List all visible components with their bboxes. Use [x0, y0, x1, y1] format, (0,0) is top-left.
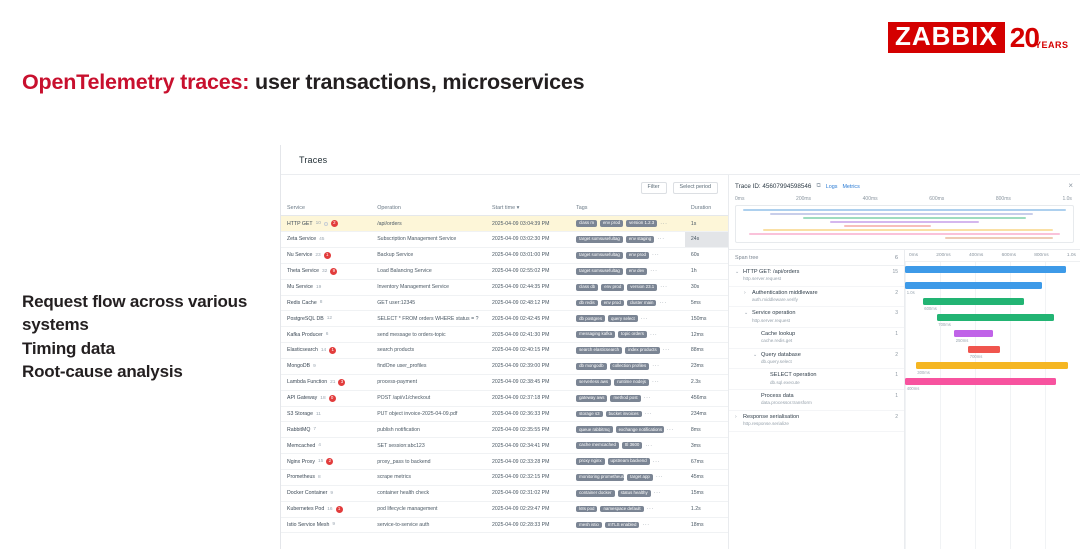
span-label: Response serialisation — [743, 414, 799, 421]
minimap-bar-1 — [770, 213, 1033, 215]
metrics-link[interactable]: Metrics — [842, 184, 859, 190]
service-name: Istio Service Mesh — [287, 522, 329, 528]
tag-chip[interactable]: gateway aws — [576, 395, 607, 402]
cell-duration: 2.3s — [685, 374, 728, 390]
cell-operation: Subscription Management Service — [371, 232, 486, 248]
cell-start-time: 2025-04-09 02:36:33 PM — [486, 406, 570, 422]
tag-chip[interactable]: db mongodb — [576, 363, 606, 370]
tag-chip[interactable]: mTLS enabled — [605, 522, 640, 529]
cell-tags: messaging kafkatopic orders··· — [570, 327, 685, 343]
more-tags-icon[interactable]: ··· — [645, 443, 652, 449]
cell-duration: 5ms — [685, 295, 728, 311]
cell-duration: 18ms — [685, 517, 728, 533]
more-tags-icon[interactable]: ··· — [659, 300, 666, 306]
tag-chip[interactable]: version 23.1 — [627, 284, 657, 291]
overview-ruler-tick-5: 1.0s — [1062, 196, 1071, 202]
service-name: Docker Container — [287, 490, 327, 496]
cell-tags: class dbenv prodversion 23.1··· — [570, 279, 685, 295]
span-tree-rows: ⌄HTTP GET: /api/ordershttp.server.reques… — [729, 266, 904, 432]
service-span-count: 9 — [313, 364, 316, 369]
error-count-badge: 1 — [324, 252, 331, 259]
gantt-ruler-tick-2: 400ms — [969, 253, 983, 258]
cell-service: Memcached4 — [281, 438, 371, 454]
cell-duration: 12ms — [685, 327, 728, 343]
span-child-count: 15 — [892, 269, 898, 275]
cell-service: MongoDB9 — [281, 358, 371, 374]
gantt-ruler-tick-1: 200ms — [936, 253, 950, 258]
span-child-count: 1 — [895, 372, 898, 378]
cell-operation: GET user:12345 — [371, 295, 486, 311]
traces-table: ServiceOperationStart time ▾TagsDuration… — [281, 201, 728, 533]
tag-chip[interactable]: env prod — [601, 284, 624, 291]
cell-operation: findOne user_profiles — [371, 358, 486, 374]
gantt-bar-0[interactable] — [905, 266, 1066, 273]
service-name: Nginx Proxy — [287, 459, 315, 465]
span-operation-name: db.sql.execute — [770, 380, 817, 386]
overview-ruler-tick-2: 400ms — [863, 196, 878, 202]
span-label: Cache lookup — [761, 331, 795, 338]
tag-chip[interactable]: collection profiles — [610, 363, 650, 370]
service-span-count: 4 — [318, 443, 321, 448]
column-header-4[interactable]: Duration — [685, 201, 728, 216]
tag-chip[interactable]: env prod — [626, 252, 649, 259]
more-tags-icon[interactable]: ··· — [654, 490, 661, 496]
cell-start-time: 2025-04-09 02:48:12 PM — [486, 295, 570, 311]
detail-split: Span tree 6 ⌄HTTP GET: /api/ordershttp.s… — [729, 249, 1080, 549]
cell-service: HTTP GET102 — [281, 216, 371, 232]
span-tree-row[interactable]: ›Response serialisationhttp.response.ser… — [729, 411, 904, 432]
span-tree-header: Span tree 6 — [729, 252, 904, 266]
span-operation-name: http.server.request — [743, 276, 799, 282]
cell-service: Elasticsearch141 — [281, 342, 371, 358]
tag-chip[interactable]: proxy nginx — [576, 458, 604, 465]
tag-chip[interactable]: query select — [608, 315, 638, 322]
tag-chip[interactable]: version 1.2.3 — [626, 220, 657, 227]
filter-button[interactable]: Filter — [641, 182, 667, 194]
more-tags-icon[interactable]: ··· — [644, 395, 651, 401]
cell-tags: target somsusefultagenv dev··· — [570, 263, 685, 279]
span-tree-row[interactable]: Cache lookupcache.redis.get1 — [729, 328, 904, 349]
gantt-bar-label-6: 300ms — [917, 370, 930, 375]
traces-app-screenshot: Traces Filter Select period ServiceOpera… — [280, 145, 1080, 549]
cell-operation: process-payment — [371, 374, 486, 390]
gantt-bar-1[interactable] — [905, 282, 1042, 289]
tag-chip[interactable]: topic orders — [618, 331, 647, 338]
gantt-ruler-tick-5: 1.0s — [1067, 253, 1076, 258]
zabbix-wordmark: ZABBIX — [888, 22, 1005, 53]
tag-chip[interactable]: search elasticsearch — [576, 347, 622, 354]
service-span-count: 21 — [330, 380, 335, 385]
cell-operation: search products — [371, 342, 486, 358]
table-row[interactable]: API Gateway180POST /api/v1/checkout2025-… — [281, 390, 728, 406]
service-span-count: 45 — [319, 237, 324, 242]
overview-ruler-tick-4: 800ms — [996, 196, 1011, 202]
overview-ruler-tick-3: 600ms — [929, 196, 944, 202]
span-operation-name: db.query.select — [761, 359, 801, 365]
tag-chip[interactable]: class m — [576, 220, 597, 227]
table-row[interactable]: Elasticsearch141search products2025-04-0… — [281, 342, 728, 358]
tag-chip[interactable]: storage s3 — [576, 411, 603, 418]
table-row[interactable]: RabbitMQ7publish notification2025-04-09 … — [281, 422, 728, 438]
tag-chip[interactable]: env prod — [600, 220, 623, 227]
column-header-3[interactable]: Tags — [570, 201, 685, 216]
service-name: Zeta Service — [287, 236, 316, 242]
more-tags-icon[interactable]: ··· — [652, 363, 659, 369]
cell-operation: PUT object invoice-2025-04-09.pdf — [371, 406, 486, 422]
cell-service: S3 Storage11 — [281, 406, 371, 422]
gantt-bar-4[interactable] — [954, 330, 993, 337]
table-row[interactable]: Zeta Service45Subscription Management Se… — [281, 232, 728, 248]
service-span-count: 10 — [316, 221, 321, 226]
table-row[interactable]: MongoDB9findOne user_profiles2025-04-09 … — [281, 358, 728, 374]
cell-service: Docker Container9 — [281, 485, 371, 501]
service-span-count: 23 — [315, 253, 320, 258]
minimap-bar-6 — [749, 233, 1059, 235]
tag-chip[interactable]: class db — [576, 284, 598, 291]
more-tags-icon[interactable]: ··· — [653, 459, 660, 465]
more-tags-icon[interactable]: ··· — [650, 268, 657, 274]
span-tree-row[interactable]: SELECT operationdb.sql.execute1 — [729, 369, 904, 390]
span-label: HTTP GET: /api/orders — [743, 269, 799, 276]
more-tags-icon[interactable]: ··· — [660, 221, 667, 227]
cell-service: Zeta Service45 — [281, 232, 371, 248]
gantt-bar-6[interactable] — [916, 362, 1068, 369]
tag-chip[interactable]: monitoring prometheus — [576, 474, 624, 481]
cell-tags: target somsusefultagenv prod··· — [570, 247, 685, 263]
minimap-bar-4 — [844, 225, 932, 227]
error-count-badge: 3 — [338, 379, 345, 386]
bullet-list: Request flow across various systems Timi… — [22, 290, 272, 384]
more-tags-icon[interactable]: ··· — [656, 474, 663, 480]
span-child-count: 2 — [895, 352, 898, 358]
service-span-count: 18 — [320, 396, 325, 401]
cell-start-time: 2025-04-09 02:41:30 PM — [486, 327, 570, 343]
cell-start-time: 2025-04-09 02:39:00 PM — [486, 358, 570, 374]
tag-chip[interactable]: messaging kafka — [576, 331, 615, 338]
cell-operation: POST /api/v1/checkout — [371, 390, 486, 406]
cell-tags: container dockerstatus healthy··· — [570, 485, 685, 501]
chevron-icon[interactable]: › — [744, 290, 749, 298]
service-name: Kubernetes Pod — [287, 506, 324, 512]
gantt-chart: 0ms200ms400ms600ms800ms1.0s 1.0s600ms700… — [905, 249, 1080, 549]
tag-chip[interactable]: namespace default — [600, 506, 643, 513]
cell-start-time: 2025-04-09 02:29:47 PM — [486, 501, 570, 517]
tag-chip[interactable]: bucket invoices — [606, 411, 642, 418]
service-name: PostgreSQL DB — [287, 316, 324, 322]
cell-operation: proxy_pass to backend — [371, 454, 486, 470]
table-row[interactable]: Kubernetes Pod161pod lifecycle managemen… — [281, 501, 728, 517]
service-span-count: 16 — [327, 507, 332, 512]
table-row[interactable]: Docker Container9container health check2… — [281, 485, 728, 501]
cell-tags: db mongodbcollection profiles··· — [570, 358, 685, 374]
cell-start-time: 2025-04-09 02:32:15 PM — [486, 470, 570, 486]
tag-chip[interactable]: status healthy — [618, 490, 651, 497]
cell-tags: serverless awsruntime nodejs··· — [570, 374, 685, 390]
cell-start-time: 2025-04-09 02:34:41 PM — [486, 438, 570, 454]
service-span-count: 9 — [332, 522, 335, 527]
cell-tags: db postgresquery select··· — [570, 311, 685, 327]
tag-chip[interactable]: db redis — [576, 300, 598, 307]
table-row[interactable]: Istio Service Mesh9service-to-service au… — [281, 517, 728, 533]
cell-start-time: 2025-04-09 02:31:02 PM — [486, 485, 570, 501]
cell-service: RabbitMQ7 — [281, 422, 371, 438]
service-name: Kafka Producer — [287, 332, 323, 338]
span-tree-title: Span tree — [735, 255, 758, 261]
span-tree-row[interactable]: ⌄Query databasedb.query.select2 — [729, 349, 904, 370]
tag-chip[interactable]: serverless aws — [576, 379, 611, 386]
gantt-bar-label-5: 700ms — [970, 354, 983, 359]
column-header-1[interactable]: Operation — [371, 201, 486, 216]
tag-chip[interactable]: container docker — [576, 490, 614, 497]
span-child-count: 2 — [895, 290, 898, 296]
tag-chip[interactable]: method post — [610, 395, 640, 402]
tag-chip[interactable]: mesh istio — [576, 522, 602, 529]
service-name: MongoDB — [287, 363, 310, 369]
tag-chip[interactable]: exchange notifications — [616, 426, 664, 433]
service-span-count: 12 — [327, 316, 332, 321]
more-tags-icon[interactable]: ··· — [652, 379, 659, 385]
trace-minimap[interactable] — [735, 205, 1074, 243]
more-tags-icon[interactable]: ··· — [645, 411, 652, 417]
gantt-bar-label-7: 400ms — [907, 386, 920, 391]
minimap-bar-0 — [743, 209, 1067, 211]
more-tags-icon[interactable]: ··· — [650, 332, 657, 338]
cell-tags: k8s podnamespace default··· — [570, 501, 685, 517]
span-label: Authentication middleware — [752, 290, 818, 297]
cell-duration: 456ms — [685, 390, 728, 406]
traces-list-pane: Filter Select period ServiceOperationSta… — [281, 175, 729, 549]
cell-operation: send message to orders-topic — [371, 327, 486, 343]
gantt-gridline-3 — [1010, 262, 1011, 549]
cell-duration: 1s — [685, 216, 728, 232]
tag-chip[interactable]: target somsusefultag — [576, 268, 623, 275]
cell-duration: 150ms — [685, 311, 728, 327]
gantt-bar-3[interactable] — [937, 314, 1054, 321]
service-span-count: 9 — [330, 491, 333, 496]
table-row[interactable]: PostgreSQL DB12SELECT * FROM orders WHER… — [281, 311, 728, 327]
table-row[interactable]: Theta Service329Load Balancing Service20… — [281, 263, 728, 279]
cell-duration: 60s — [685, 247, 728, 263]
tag-chip[interactable]: db postgres — [576, 315, 605, 322]
span-label: Process data — [761, 393, 812, 400]
service-span-count: 32 — [322, 269, 327, 274]
app-header: Traces — [281, 145, 1080, 175]
cell-operation: SET session:abc123 — [371, 438, 486, 454]
page-title-accent: OpenTelemetry traces: — [22, 70, 249, 94]
table-row[interactable]: Nu Service231Backup Service2025-04-09 03… — [281, 247, 728, 263]
cell-duration: 88ms — [685, 342, 728, 358]
cell-start-time: 2025-04-09 02:40:15 PM — [486, 342, 570, 358]
overview-ruler-tick-0: 0ms — [735, 196, 744, 202]
tag-chip[interactable]: cache memcached — [576, 442, 619, 449]
service-name: Mu Service — [287, 284, 313, 290]
gantt-gridline-2 — [975, 262, 976, 549]
overview-time-ruler: 0ms200ms400ms600ms800ms1.0s — [729, 196, 1080, 205]
select-period-button[interactable]: Select period — [673, 182, 718, 194]
minimap-bar-2 — [803, 217, 1025, 219]
cell-operation: publish notification — [371, 422, 486, 438]
gantt-bar-label-3: 700ms — [938, 322, 951, 327]
gantt-ruler-tick-0: 0ms — [909, 253, 918, 258]
service-name: HTTP GET — [287, 221, 313, 227]
cell-service: PostgreSQL DB12 — [281, 311, 371, 327]
cell-operation: pod lifecycle management — [371, 501, 486, 517]
overview-ruler-tick-1: 200ms — [796, 196, 811, 202]
column-header-0[interactable]: Service — [281, 201, 371, 216]
more-tags-icon[interactable]: ··· — [652, 252, 659, 258]
service-span-count: 7 — [313, 427, 316, 432]
cell-tags: monitoring prometheustarget app··· — [570, 470, 685, 486]
error-count-badge: 2 — [331, 220, 338, 227]
gantt-bar-2[interactable] — [923, 298, 1025, 305]
cell-tags: class menv prodversion 1.2.3··· — [570, 216, 685, 232]
cell-start-time: 2025-04-09 02:28:33 PM — [486, 517, 570, 533]
gantt-bar-5[interactable] — [968, 346, 1000, 353]
table-header-row: ServiceOperationStart time ▾TagsDuration — [281, 201, 728, 216]
status-dot-icon — [324, 222, 328, 226]
table-row[interactable]: Kafka Producer6send message to orders-to… — [281, 327, 728, 343]
tag-chip[interactable]: index products — [625, 347, 660, 354]
more-tags-icon[interactable]: ··· — [657, 236, 664, 242]
service-name: Lambda Function — [287, 379, 327, 385]
table-row[interactable]: Memcached4SET session:abc1232025-04-09 0… — [281, 438, 728, 454]
cell-tags: cache memcachedttl 3600··· — [570, 438, 685, 454]
chevron-icon[interactable]: ⌄ — [753, 352, 758, 360]
cell-duration: 1h — [685, 263, 728, 279]
table-row[interactable]: HTTP GET102/api/orders2025-04-09 03:04:3… — [281, 216, 728, 232]
trace-detail-pane: Trace ID: 45607994598546 ⧉ Logs Metrics … — [729, 175, 1080, 549]
tag-chip[interactable]: target somsusefultag — [576, 252, 623, 259]
tag-chip[interactable]: k8s pod — [576, 506, 597, 513]
chevron-icon[interactable]: › — [735, 414, 740, 422]
table-row[interactable]: Redis Cache8GET user:123452025-04-09 02:… — [281, 295, 728, 311]
tag-chip[interactable]: env prod — [601, 300, 624, 307]
more-tags-icon[interactable]: ··· — [667, 427, 674, 433]
table-row[interactable]: Mu Service19Inventory Management Service… — [281, 279, 728, 295]
tag-chip[interactable]: target somsusefultag — [576, 236, 623, 243]
cell-operation: Backup Service — [371, 247, 486, 263]
error-count-badge: 2 — [326, 458, 333, 465]
gantt-bar-7[interactable] — [905, 378, 1056, 385]
span-label: Service operation — [752, 310, 796, 317]
cell-operation: Load Balancing Service — [371, 263, 486, 279]
span-operation-name: auth.middleware.verify — [752, 297, 818, 303]
cell-service: Kubernetes Pod161 — [281, 501, 371, 517]
cell-operation: /api/orders — [371, 216, 486, 232]
table-row[interactable]: Prometheus8scrape metrics2025-04-09 02:3… — [281, 470, 728, 486]
span-operation-name: data.processor.transform — [761, 400, 812, 406]
cell-operation: scrape metrics — [371, 470, 486, 486]
app-header-title: Traces — [299, 155, 327, 165]
gantt-gridline-0 — [905, 262, 906, 549]
more-tags-icon[interactable]: ··· — [642, 522, 649, 528]
tag-chip[interactable]: runtime nodejs — [614, 379, 649, 386]
cell-duration: 67ms — [685, 454, 728, 470]
gantt-bar-label-2: 600ms — [924, 306, 937, 311]
service-span-count: 6 — [326, 332, 329, 337]
span-operation-name: cache.redis.get — [761, 338, 795, 344]
anniversary-years: YEARS — [1035, 40, 1069, 53]
span-label: Query database — [761, 352, 801, 359]
table-row[interactable]: Lambda Function213process-payment2025-04… — [281, 374, 728, 390]
span-tree-row[interactable]: ⌄Service operationhttp.server.request3 — [729, 307, 904, 328]
tag-chip[interactable]: target app — [627, 474, 653, 481]
tag-chip[interactable]: ttl 3600 — [622, 442, 642, 449]
tag-chip[interactable]: cluster main — [627, 300, 657, 307]
page-title: OpenTelemetry traces: user transactions,… — [22, 70, 584, 95]
trace-detail-header: Trace ID: 45607994598546 ⧉ Logs Metrics … — [729, 175, 1080, 196]
gantt-ruler-tick-3: 600ms — [1002, 253, 1016, 258]
more-tags-icon[interactable]: ··· — [663, 347, 670, 353]
tag-chip[interactable]: queue rabbitmq — [576, 426, 613, 433]
minimap-bar-5 — [763, 229, 1053, 231]
cell-duration: 23ms — [685, 358, 728, 374]
cell-start-time: 2025-04-09 03:02:30 PM — [486, 232, 570, 248]
span-tree-row[interactable]: ⌄HTTP GET: /api/ordershttp.server.reques… — [729, 266, 904, 287]
gantt-gridline-1 — [940, 262, 941, 549]
table-row[interactable]: Nginx Proxy152proxy_pass to backend2025-… — [281, 454, 728, 470]
more-tags-icon[interactable]: ··· — [641, 316, 648, 322]
cell-start-time: 2025-04-09 02:35:55 PM — [486, 422, 570, 438]
cell-duration: 8ms — [685, 422, 728, 438]
cell-start-time: 2025-04-09 02:55:02 PM — [486, 263, 570, 279]
cell-duration: 1.2s — [685, 501, 728, 517]
service-name: Prometheus — [287, 474, 315, 480]
error-count-badge: 1 — [329, 347, 336, 354]
cell-tags: gateway awsmethod post··· — [570, 390, 685, 406]
cell-duration: 3ms — [685, 438, 728, 454]
tag-chip[interactable]: env dev — [626, 268, 647, 275]
cell-operation: service-to-service auth — [371, 517, 486, 533]
service-name: Elasticsearch — [287, 347, 318, 353]
chevron-icon[interactable]: ⌄ — [744, 310, 749, 318]
column-header-2[interactable]: Start time ▾ — [486, 201, 570, 216]
span-tree-panel: Span tree 6 ⌄HTTP GET: /api/ordershttp.s… — [729, 249, 905, 549]
tag-chip[interactable]: upstream backend — [608, 458, 650, 465]
cell-service: Kafka Producer6 — [281, 327, 371, 343]
span-operation-name: http.response.serialize — [743, 421, 799, 427]
copy-icon[interactable]: ⧉ — [816, 183, 820, 190]
app-body: Filter Select period ServiceOperationSta… — [281, 175, 1080, 549]
more-tags-icon[interactable]: ··· — [660, 284, 667, 290]
close-icon[interactable]: × — [1068, 182, 1073, 190]
service-span-count: 19 — [316, 285, 321, 290]
tag-chip[interactable]: env staging — [626, 236, 654, 243]
anniversary-20: 20 — [1010, 24, 1039, 52]
cell-service: Theta Service329 — [281, 263, 371, 279]
service-span-count: 15 — [318, 459, 323, 464]
chevron-icon[interactable]: ⌄ — [735, 269, 740, 277]
cell-start-time: 2025-04-09 02:33:28 PM — [486, 454, 570, 470]
minimap-bar-3 — [830, 221, 978, 223]
span-tree-row[interactable]: ›Authentication middlewareauth.middlewar… — [729, 287, 904, 308]
span-tree-row[interactable]: Process datadata.processor.transform1 — [729, 390, 904, 411]
logs-link[interactable]: Logs — [826, 184, 838, 190]
traces-table-head: ServiceOperationStart time ▾TagsDuration — [281, 201, 728, 216]
span-label: SELECT operation — [770, 372, 817, 379]
cell-service: Redis Cache8 — [281, 295, 371, 311]
gantt-ruler-tick-4: 800ms — [1034, 253, 1048, 258]
table-row[interactable]: S3 Storage11PUT object invoice-2025-04-0… — [281, 406, 728, 422]
cell-duration: 234ms — [685, 406, 728, 422]
more-tags-icon[interactable]: ··· — [647, 506, 654, 512]
service-name: Nu Service — [287, 252, 312, 258]
cell-duration: 15ms — [685, 485, 728, 501]
cell-service: Istio Service Mesh9 — [281, 517, 371, 533]
cell-tags: storage s3bucket invoices··· — [570, 406, 685, 422]
cell-operation: container health check — [371, 485, 486, 501]
service-span-count: 14 — [321, 348, 326, 353]
